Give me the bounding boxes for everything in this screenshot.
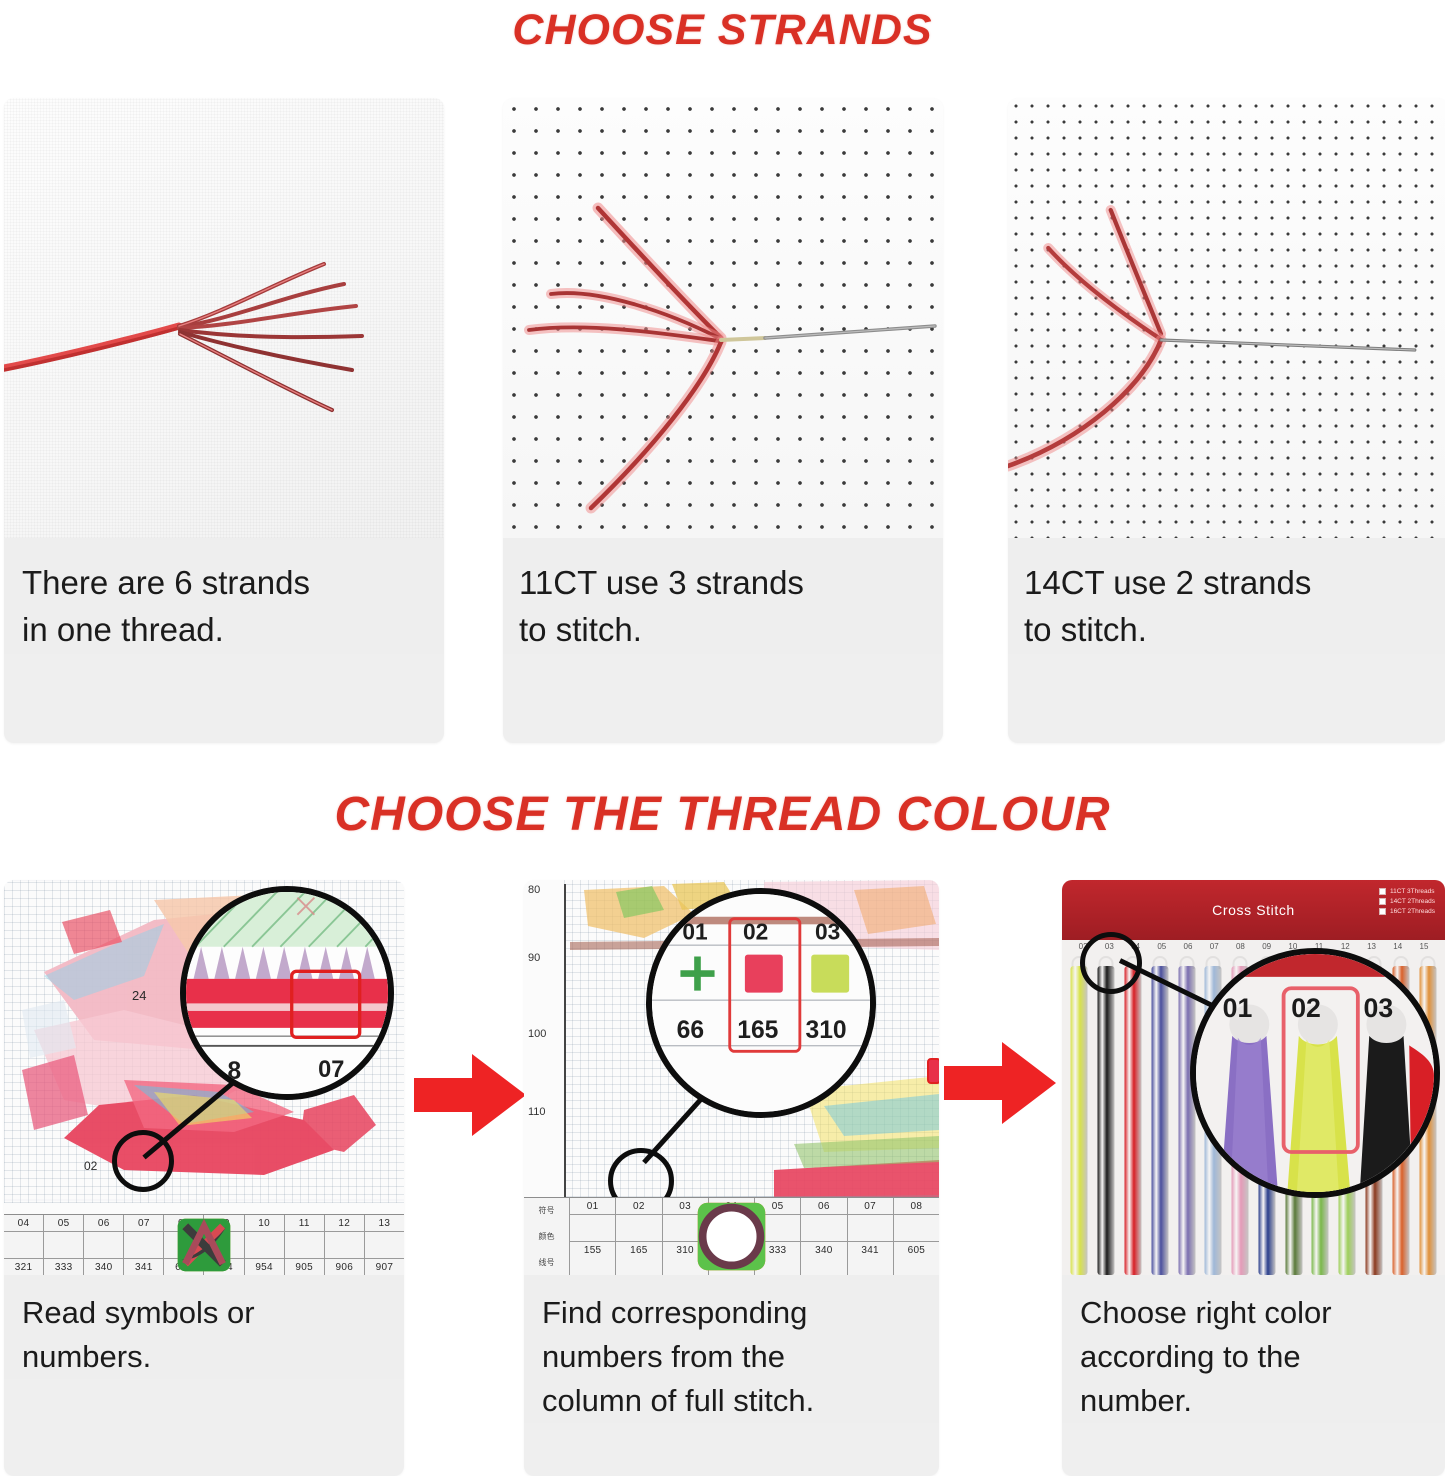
caption-line-1: Find corresponding xyxy=(542,1291,925,1335)
infographic-page: CHOOSE STRANDS xyxy=(0,0,1445,1476)
card-six-strands: There are 6 strands in one thread. xyxy=(4,98,444,743)
organizer-number: 05 xyxy=(1149,942,1175,956)
six-strands-photo xyxy=(4,98,444,538)
floss-skein[interactable] xyxy=(1093,956,1120,1275)
magnifier-source-circle xyxy=(1080,932,1142,994)
magnifier-lens: 8 07 xyxy=(180,886,394,1100)
card-caption: Find corresponding numbers from the colu… xyxy=(524,1275,939,1423)
svg-text:03: 03 xyxy=(815,918,840,944)
checkbox-icon[interactable] xyxy=(1379,908,1386,915)
card-14ct: 14CT use 2 strands to stitch. xyxy=(1008,98,1445,743)
caption-line-1: 14CT use 2 strands xyxy=(1024,560,1432,607)
svg-text:03: 03 xyxy=(1364,993,1394,1023)
svg-text:66: 66 xyxy=(677,1017,704,1044)
skein-floss xyxy=(1178,966,1195,1275)
card-choose-color: Cross Stitch 11CT 3Threads14CT 2Threads1… xyxy=(1062,880,1445,1476)
svg-text:01: 01 xyxy=(1223,993,1253,1023)
organizer-checkbox-row[interactable]: 16CT 2Threads xyxy=(1379,908,1435,915)
edge-colour-marker xyxy=(927,1058,939,1084)
floss-skein[interactable] xyxy=(1146,956,1173,1275)
card-caption: 14CT use 2 strands to stitch. xyxy=(1008,538,1445,654)
skein-floss xyxy=(1124,966,1141,1275)
checkbox-icon[interactable] xyxy=(1379,898,1386,905)
thread-splitting-illustration xyxy=(4,98,444,538)
organizer-checkbox-row[interactable]: 14CT 2Threads xyxy=(1379,898,1435,905)
card-read-symbols: 24 02 xyxy=(4,880,404,1476)
caption-line-2: to stitch. xyxy=(1024,607,1432,654)
checkbox-label: 11CT 3Threads xyxy=(1390,888,1435,895)
magnifier-lens: 01 02 03 xyxy=(1190,948,1440,1198)
caret-icon xyxy=(365,1232,404,1258)
card-11ct: 11CT use 3 strands to stitch. xyxy=(503,98,943,743)
checkbox-label: 16CT 2Threads xyxy=(1390,908,1435,915)
magnifier-source-circle xyxy=(112,1130,174,1192)
pattern-legend-table: 0432105333063400734108605097941095411905… xyxy=(4,1214,404,1275)
svg-text:07: 07 xyxy=(318,1056,344,1082)
svg-text:310: 310 xyxy=(806,1017,847,1044)
organizer-header: Cross Stitch 11CT 3Threads14CT 2Threads1… xyxy=(1062,880,1445,940)
organizer-checkbox-row[interactable]: 11CT 3Threads xyxy=(1379,888,1435,895)
floss-skein[interactable] xyxy=(1066,956,1093,1275)
caption-line-1: 11CT use 3 strands xyxy=(519,560,927,607)
legend-column: 08605 xyxy=(894,1198,939,1275)
magnified-skein-detail: 01 02 03 xyxy=(1196,954,1434,1192)
caption-line-1: There are 6 strands xyxy=(22,560,428,607)
caption-line-1: Read symbols or xyxy=(22,1291,390,1335)
card-caption: Choose right color according to the numb… xyxy=(1062,1275,1445,1423)
arrow-right-icon-2 xyxy=(944,1040,1056,1126)
full-stitch-legend-table: 符号颜色线号0115502165033100432105333063400734… xyxy=(524,1197,939,1275)
organizer-checkbox-list: 11CT 3Threads14CT 2Threads16CT 2Threads xyxy=(1379,888,1435,915)
legend-column: 13907 xyxy=(365,1215,404,1275)
floss-skein[interactable] xyxy=(1120,956,1147,1275)
svg-text:8: 8 xyxy=(228,1058,242,1085)
caption-line-2: according to the xyxy=(1080,1335,1431,1379)
svg-text:24: 24 xyxy=(132,988,146,1003)
card-caption: There are 6 strands in one thread. xyxy=(4,538,444,654)
card-caption: 11CT use 3 strands to stitch. xyxy=(503,538,943,654)
card-caption: Read symbols or numbers. xyxy=(4,1275,404,1379)
svg-text:01: 01 xyxy=(682,918,708,944)
section-title-choose-thread-colour: CHOOSE THE THREAD COLOUR xyxy=(0,778,1445,846)
card-find-numbers: 8090100110 xyxy=(524,880,939,1476)
checkbox-icon[interactable] xyxy=(1379,888,1386,895)
magnified-legend-detail: 01 66 02 165 03 310 xyxy=(652,894,870,1112)
three-strands-needle-illustration xyxy=(503,98,943,538)
checkbox-label: 14CT 2Threads xyxy=(1390,898,1435,905)
skein-floss xyxy=(1071,966,1088,1275)
thread-organizer-photo: Cross Stitch 11CT 3Threads14CT 2Threads1… xyxy=(1062,880,1445,1275)
skein-floss xyxy=(1098,966,1115,1275)
caption-line-3: number. xyxy=(1080,1379,1431,1423)
two-strands-needle-illustration xyxy=(1008,98,1445,538)
magnifier-lens: 01 66 02 165 03 310 xyxy=(646,888,876,1118)
svg-text:165: 165 xyxy=(737,1017,778,1044)
pattern-chart-photo: 24 02 xyxy=(4,880,404,1275)
14ct-aida-photo xyxy=(1008,98,1445,538)
svg-text:02: 02 xyxy=(84,1159,98,1173)
arrow-right-icon-1 xyxy=(414,1052,526,1138)
caption-line-1: Choose right color xyxy=(1080,1291,1431,1335)
magnified-stitch-detail: 8 07 xyxy=(186,892,388,1094)
caption-line-2: numbers. xyxy=(22,1335,390,1379)
11ct-aida-photo xyxy=(503,98,943,538)
organizer-title: Cross Stitch xyxy=(1212,902,1295,918)
svg-text:02: 02 xyxy=(743,918,768,944)
caption-line-2: in one thread. xyxy=(22,607,428,654)
strands-card-row: There are 6 strands in one thread. xyxy=(0,98,1445,743)
svg-text:02: 02 xyxy=(1291,993,1321,1023)
caption-line-3: column of full stitch. xyxy=(542,1379,925,1423)
colour-card-row: 24 02 xyxy=(0,880,1445,1476)
chart-legend-photo: 8090100110 xyxy=(524,880,939,1275)
caption-line-2: to stitch. xyxy=(519,607,927,654)
section-title-choose-strands: CHOOSE STRANDS xyxy=(0,0,1445,58)
caption-line-2: numbers from the xyxy=(542,1335,925,1379)
skein-floss xyxy=(1151,966,1168,1275)
legend-symbol-icon xyxy=(894,1215,939,1241)
